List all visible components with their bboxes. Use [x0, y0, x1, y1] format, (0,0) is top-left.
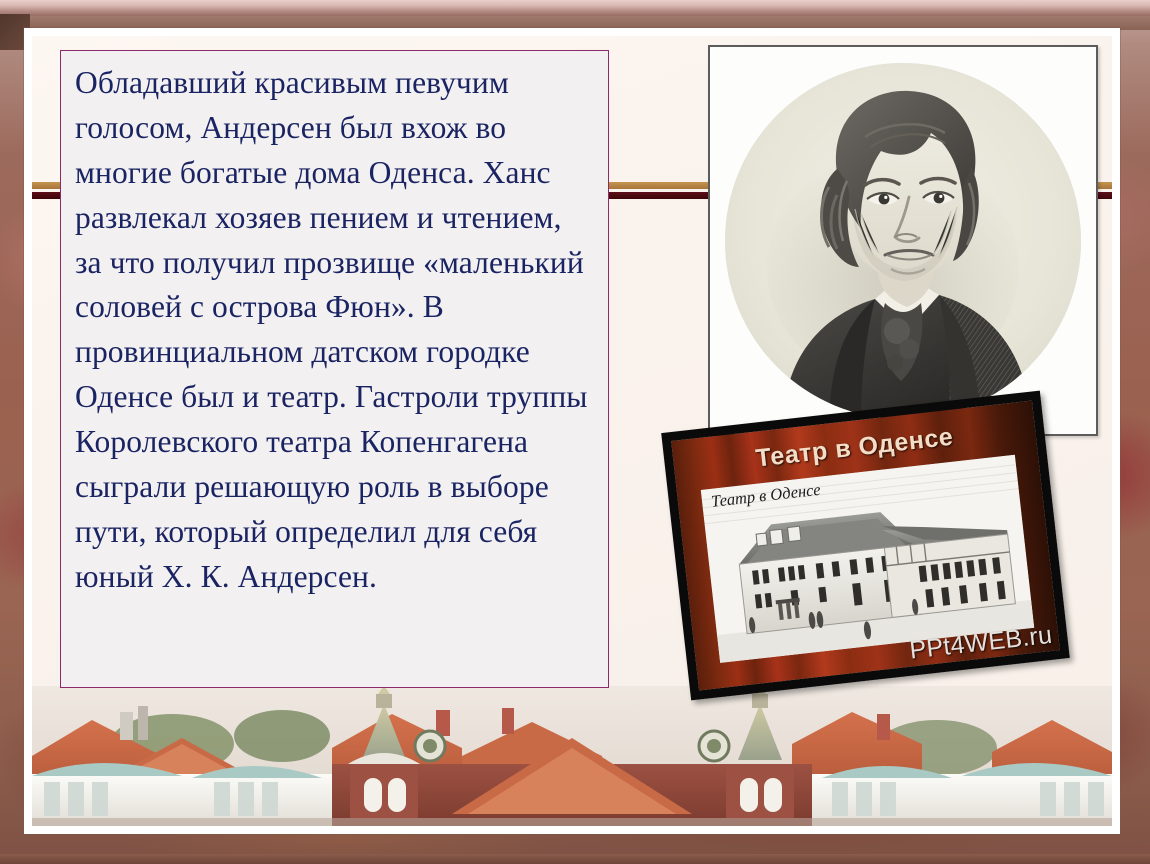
- body-text-card: Обладавший красивым певучим голосом, Анд…: [60, 50, 609, 688]
- rooftops-illustration: [32, 686, 1112, 826]
- slide-canvas: Обладавший красивым певучим голосом, Анд…: [32, 36, 1112, 826]
- rooftops-photo-band: [32, 686, 1112, 826]
- frame-top-highlight: [0, 0, 1150, 16]
- andersen-portrait-engraving: [725, 63, 1081, 419]
- andersen-portrait-frame[interactable]: [708, 45, 1098, 436]
- presentation-slide: Обладавший красивым певучим голосом, Анд…: [0, 0, 1150, 864]
- portrait-vignette: [725, 63, 1081, 419]
- body-text: Обладавший красивым певучим голосом, Анд…: [75, 61, 594, 600]
- frame-bottom-edge: [0, 854, 1150, 864]
- odense-theatre-photo[interactable]: Театр в Оденсе: [661, 391, 1070, 701]
